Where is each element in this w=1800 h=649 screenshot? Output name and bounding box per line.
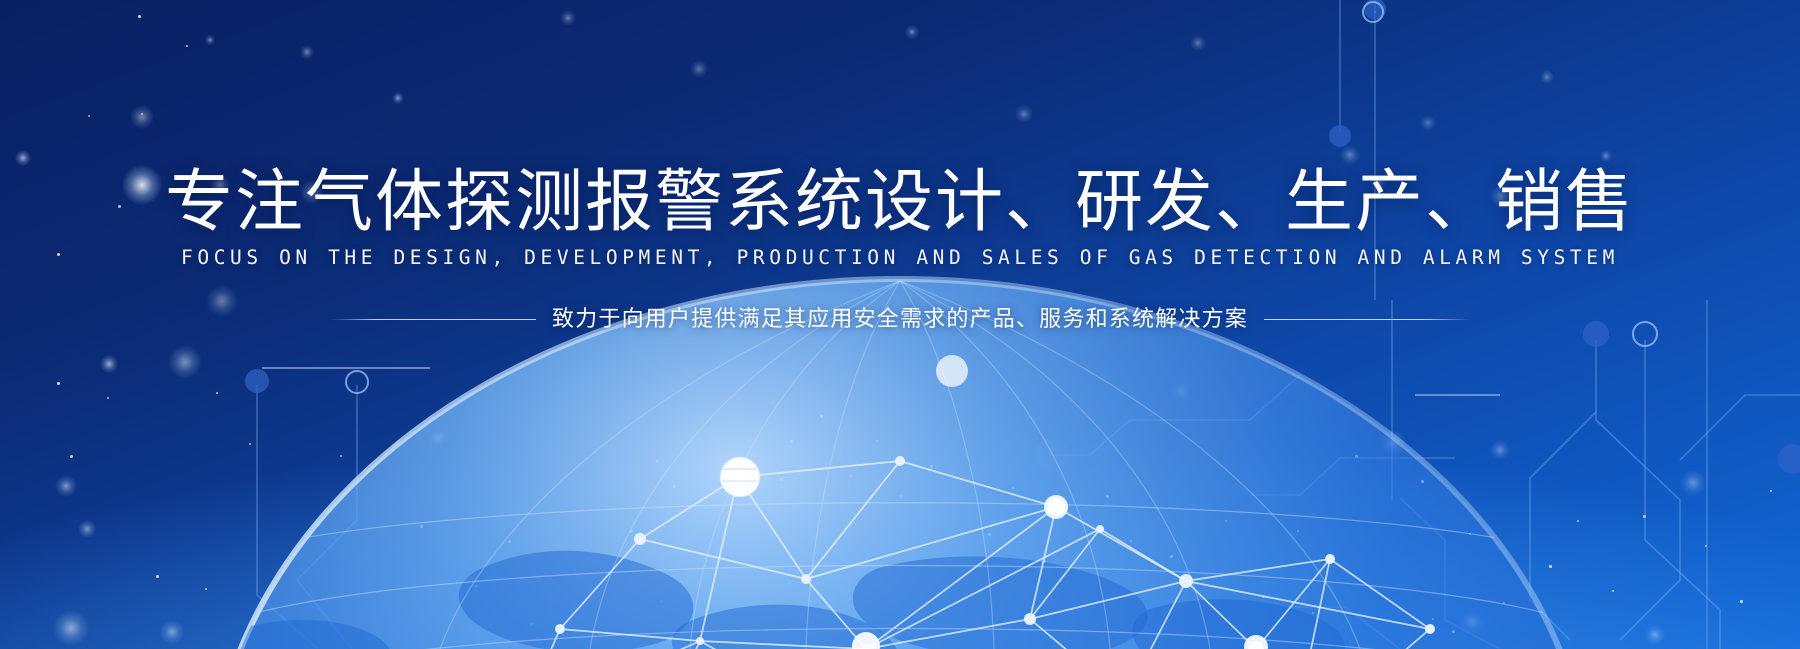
star-dot [850,475,852,477]
divider-line-left [330,319,536,320]
star-dot [475,585,478,588]
glow-particle [78,520,96,538]
circuit-trace [1052,375,1300,455]
star-dot [1355,455,1358,458]
star-dot [141,113,143,115]
star-dot [57,382,60,385]
star-dot [720,480,722,482]
circuit-node-filled [1778,444,1800,474]
star-dot [249,443,251,445]
glow-particle [1680,470,1706,496]
glow-particle [300,45,314,59]
star-dot [70,455,73,458]
star-dot [1421,480,1424,483]
star-dot [1130,540,1132,542]
banner-subtitle-english: FOCUS ON THE DESIGN, DEVELOPMENT, PRODUC… [0,248,1800,268]
star-dot [1705,545,1707,547]
star-dot [1297,530,1299,532]
globe-rim [210,279,1590,649]
star-dot [656,460,658,462]
star-dot [900,495,902,497]
star-dot [630,530,633,533]
star-dot [1469,533,1471,535]
star-dot [508,540,511,543]
star-dot [156,575,159,578]
circuit-node-filled [245,369,269,393]
star-dot [1643,515,1646,518]
glow-particle [1645,625,1665,645]
circuit-trace [1596,340,1680,640]
banner-tagline-row: 致力于向用户提供满足其应用安全需求的产品、服务和系统解决方案 [0,308,1800,330]
glow-particle [15,150,31,166]
star-dot [216,392,218,394]
glow-particle [168,345,202,379]
star-dot [205,588,207,590]
glow-particle [430,430,446,446]
star-dot [1503,602,1505,604]
glow-particle [1600,150,1612,162]
globe-longitudes [440,281,1360,649]
glow-particle [130,105,154,129]
glow-particle [560,10,576,26]
star-dot [780,478,783,481]
circuit-trace [1680,395,1800,460]
star-dot [790,440,793,443]
star-dot [1225,520,1227,522]
star-dot [1770,490,1772,492]
globe-latitudes [214,503,1586,649]
star-dot [1612,590,1614,592]
glow-particle [53,610,89,646]
star-dot [1043,560,1046,563]
circuit-node-filled [1329,125,1351,147]
hero-banner: 专注气体探测报警系统设计、研发、生产、销售 FOCUS ON THE DESIG… [0,0,1800,649]
glow-particle [100,355,118,373]
circuit-trace [297,385,357,649]
glow-particle [392,92,404,104]
glow-particle [1380,430,1406,456]
star-dot [138,15,141,18]
circuit-trace [1400,498,1500,649]
star-dot [340,455,342,457]
glow-particle [1340,145,1360,165]
star-dot [660,600,663,603]
globe-continents [226,551,1345,649]
star-dot [930,465,933,468]
glow-particle [160,620,184,644]
circuit-trace [357,440,400,483]
glow-particle [1015,105,1033,123]
circuit-node-hollow [346,371,368,393]
circuit-node-filled [1181,506,1211,536]
circuit-node-filled [1035,438,1069,472]
circuit-trace [1290,607,1400,649]
star-dot [107,397,109,399]
star-dot [88,115,90,117]
star-dot [876,440,878,442]
star-dot [1577,520,1579,522]
star-dot [530,623,533,626]
glow-particle [1420,115,1436,131]
star-dot [1312,612,1314,614]
star-dot [1262,595,1265,598]
star-dot [1740,600,1743,603]
star-dot [1549,565,1552,568]
glow-particle [690,60,708,78]
page-title: 专注气体探测报警系统设计、研发、生产、销售 [0,168,1800,236]
star-dot [1452,630,1455,633]
globe-network-nodes [516,456,1435,649]
glow-particle [1540,70,1554,84]
globe-network-links [520,461,1430,649]
star-dot [1012,487,1014,489]
star-dot [673,485,676,488]
glow-particle [205,35,215,45]
network-globe-graphic [0,229,1800,649]
star-dot [705,565,707,567]
circuit-node-filled [1364,0,1386,20]
globe-sphere [210,279,1590,649]
glow-particle [1460,610,1484,634]
star-dot [575,575,577,577]
star-dot [186,45,188,47]
circuit-trace [1250,458,1455,495]
star-dot [1106,495,1109,498]
circuit-trace [1645,340,1720,649]
star-dot [820,415,823,418]
divider-line-right [1264,319,1470,320]
circuit-trace [1530,412,1596,640]
star-dot [660,530,662,532]
circuit-trace [257,385,318,649]
star-dot [420,525,423,528]
glow-particle [905,25,919,39]
banner-tagline: 致力于向用户提供满足其应用安全需求的产品、服务和系统解决方案 [552,308,1248,330]
star-dot [1170,555,1173,558]
star-dot [988,533,991,536]
circuit-node-hollow [1363,2,1383,22]
star-dot [1432,618,1434,620]
glow-particle [55,475,77,497]
globe-marker-spheres [512,355,1268,649]
glow-particle [1190,35,1206,51]
glow-particle [1490,440,1510,460]
glow-particle [1170,380,1192,402]
